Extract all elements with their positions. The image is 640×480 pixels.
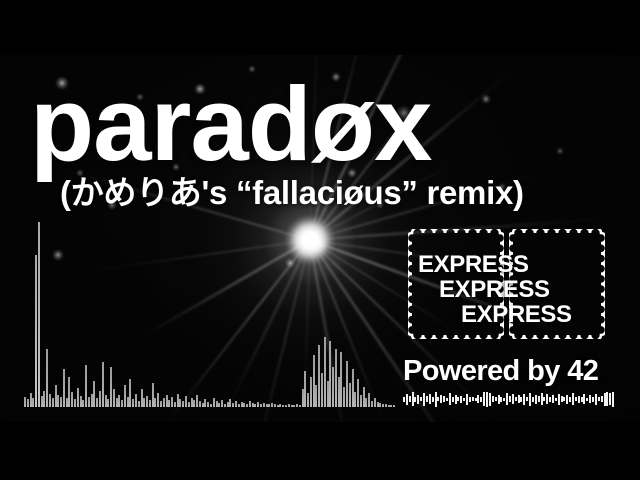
mini-waveform-bar	[595, 394, 597, 405]
mini-waveform-bar	[589, 395, 591, 403]
mini-waveform-bar	[538, 396, 540, 402]
mini-waveform-bar	[483, 392, 485, 406]
mini-waveform-bar	[598, 397, 600, 401]
mini-waveform-bar	[581, 397, 583, 402]
mini-waveform-bar	[523, 394, 525, 405]
mini-waveform-bar	[604, 393, 606, 406]
mini-waveform-bar	[472, 397, 474, 401]
mini-waveform-bar	[463, 398, 465, 401]
mini-waveform-bar	[492, 396, 494, 402]
title-overlay: paradøx (かめりあ's “fallaciøus” remix) EXPR…	[0, 0, 640, 480]
mini-waveform-bar	[452, 397, 454, 402]
mini-waveform-bar	[475, 398, 477, 401]
letterbox-bar-top	[0, 0, 640, 55]
express-stamp-left	[408, 229, 504, 339]
page-title: paradøx	[30, 72, 431, 177]
mini-waveform-bar	[489, 393, 491, 406]
express-stamp-group	[408, 229, 608, 341]
mini-waveform-bar	[455, 395, 457, 404]
subtitle: (かめりあ's “fallaciøus” remix)	[60, 175, 524, 211]
mini-waveform-bar	[526, 397, 528, 401]
mini-waveform-bar	[578, 396, 580, 403]
mini-waveform-bar	[469, 397, 471, 402]
mini-waveform-bar	[583, 394, 585, 404]
mini-waveform-bar	[477, 395, 479, 403]
mini-waveform-bar	[414, 397, 416, 402]
mini-waveform-visualizer	[403, 390, 615, 408]
mini-waveform-bar	[443, 396, 445, 402]
mini-waveform-bar	[529, 393, 531, 406]
mini-waveform-bar	[549, 397, 551, 402]
mini-waveform-bar	[609, 393, 611, 405]
mini-waveform-bar	[486, 392, 488, 407]
mini-waveform-bar	[426, 396, 428, 402]
mini-waveform-bar	[555, 398, 557, 401]
powered-by-credit: Powered by 42	[403, 355, 598, 387]
mini-waveform-bar	[503, 398, 505, 401]
mini-waveform-bar	[412, 392, 414, 406]
mini-waveform-bar	[446, 398, 448, 401]
mini-waveform-bar	[569, 397, 571, 402]
mini-waveform-bar	[572, 393, 574, 405]
mini-waveform-bar	[566, 395, 568, 404]
mini-waveform-bar	[543, 397, 545, 401]
mini-waveform-bar	[561, 396, 563, 402]
mini-waveform-bar	[506, 393, 508, 405]
mini-waveform-bar	[495, 397, 497, 401]
mini-waveform-bar	[437, 397, 439, 401]
mini-waveform-bar	[403, 397, 405, 402]
mini-waveform-bar	[440, 395, 442, 403]
mini-waveform-bar	[429, 394, 431, 404]
mini-waveform-bar	[612, 392, 614, 407]
mini-waveform-bar	[460, 396, 462, 403]
mini-waveform-bar	[498, 395, 500, 404]
mini-waveform-bar	[500, 397, 502, 402]
mini-waveform-bar	[420, 397, 422, 401]
mini-waveform-bar	[520, 397, 522, 402]
mini-waveform-bar	[417, 395, 419, 404]
mini-waveform-bar	[558, 394, 560, 405]
mini-waveform-bar	[480, 397, 482, 402]
mini-waveform-bar	[606, 392, 608, 406]
mini-waveform-bar	[515, 397, 517, 401]
mini-waveform-bar	[546, 394, 548, 404]
mini-waveform-bar	[601, 396, 603, 402]
letterbox-bar-bottom	[0, 422, 640, 480]
mini-waveform-bar	[512, 394, 514, 404]
mini-waveform-bar	[518, 395, 520, 403]
mini-waveform-bar	[535, 395, 537, 404]
mini-waveform-bar	[449, 393, 451, 405]
mini-waveform-bar	[575, 397, 577, 401]
mini-waveform-bar	[435, 392, 437, 407]
mini-waveform-bar	[592, 397, 594, 402]
mini-waveform-bar	[563, 397, 565, 401]
mini-waveform-bar	[541, 393, 543, 405]
mini-waveform-bar	[466, 394, 468, 405]
mini-waveform-bar	[532, 397, 534, 402]
mini-waveform-bar	[552, 395, 554, 403]
mini-waveform-bar	[423, 393, 425, 406]
mini-waveform-bar	[432, 397, 434, 402]
express-stamp-right	[509, 229, 605, 339]
video-player-stage: paradøx (かめりあ's “fallaciøus” remix) EXPR…	[0, 0, 640, 480]
mini-waveform-bar	[457, 397, 459, 401]
mini-waveform-bar	[409, 396, 411, 402]
mini-waveform-bar	[586, 398, 588, 401]
mini-waveform-bar	[406, 394, 408, 405]
mini-waveform-bar	[509, 396, 511, 402]
